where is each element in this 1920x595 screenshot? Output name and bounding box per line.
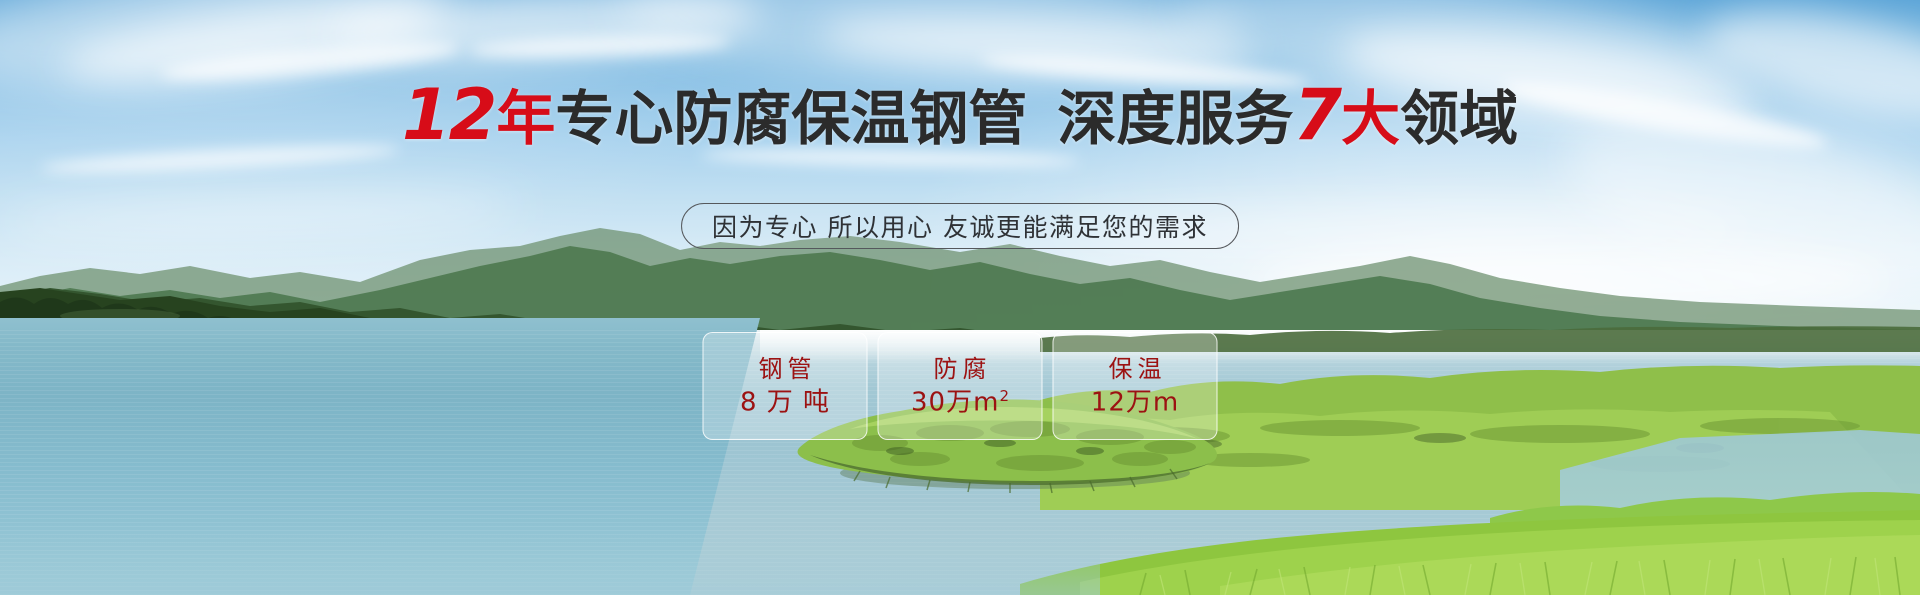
headline-number-years: 12	[402, 74, 495, 156]
foreground-grass	[1020, 500, 1920, 595]
subtitle-pill: 因为专心 所以用心 友诚更能满足您的需求	[681, 203, 1239, 249]
headline-service-text: 深度服务	[1057, 84, 1293, 153]
headline-number-fields: 7	[1293, 74, 1340, 156]
stat-card-value: 30万m2	[911, 389, 1009, 416]
stat-card-value: 12万m	[1091, 389, 1179, 416]
headline-unit-years: 年	[496, 84, 555, 153]
headline-tail-text: 领域	[1400, 84, 1518, 153]
subtitle-text: 因为专心 所以用心 友诚更能满足您的需求	[712, 208, 1208, 244]
promo-banner: 12年专心防腐保温钢管深度服务7大领域 因为专心 所以用心 友诚更能满足您的需求…	[0, 0, 1920, 595]
stat-card-superscript: 2	[999, 387, 1009, 405]
stat-card-insulation[interactable]: 保温 12万m	[1053, 332, 1218, 440]
stat-card-label: 钢管	[754, 357, 817, 381]
stat-card-label: 保温	[1104, 357, 1167, 381]
stat-card-steel-pipe[interactable]: 钢管 8 万 吨	[703, 332, 868, 440]
stat-card-value: 8 万 吨	[740, 389, 830, 416]
stat-card-group: 钢管 8 万 吨 防腐 30万m2 保温 12万m	[703, 332, 1218, 440]
page-title: 12年专心防腐保温钢管深度服务7大领域	[0, 83, 1920, 151]
water-bottom-left	[0, 520, 1100, 595]
headline-unit-fields: 大	[1341, 84, 1400, 153]
stat-card-anticorrosion[interactable]: 防腐 30万m2	[878, 332, 1043, 440]
headline-main-text: 专心防腐保温钢管	[555, 84, 1027, 153]
stat-card-label: 防腐	[929, 357, 992, 381]
